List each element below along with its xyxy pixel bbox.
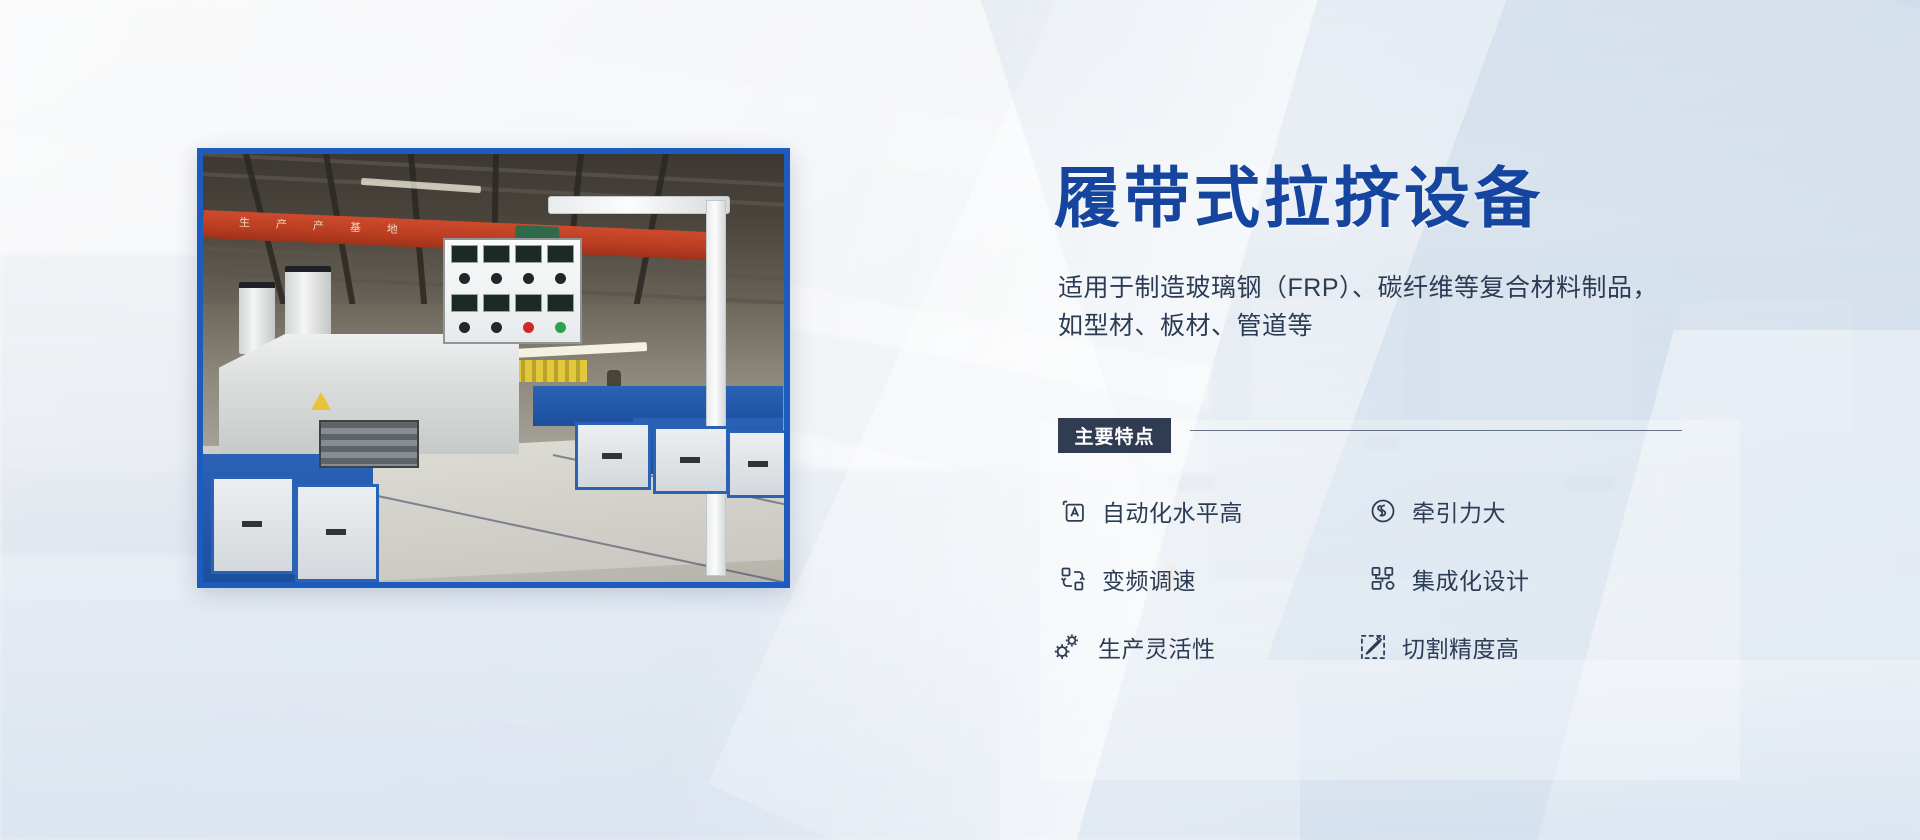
- feature-label: 生产灵活性: [1098, 630, 1216, 664]
- page-title: 履带式拉挤设备: [1054, 166, 1544, 232]
- product-photo: 生产产基地: [197, 148, 790, 588]
- feature-item-automation[interactable]: 自动化水平高: [1040, 490, 1350, 532]
- feature-label: 自动化水平高: [1102, 494, 1243, 528]
- feature-label: 切割精度高: [1402, 630, 1520, 664]
- feature-item-cut-precision[interactable]: 切割精度高: [1350, 626, 1650, 668]
- cut-precision-icon: [1358, 632, 1388, 662]
- feature-label: 变频调速: [1102, 562, 1196, 596]
- gears-icon: [1048, 632, 1084, 662]
- feature-label: 集成化设计: [1412, 562, 1530, 596]
- page-subtitle: 适用于制造玻璃钢（FRP）、碳纤维等复合材料制品，如型材、板材、管道等: [1058, 270, 1658, 345]
- automation-icon: [1058, 496, 1088, 526]
- banner-content: 履带式拉挤设备 适用于制造玻璃钢（FRP）、碳纤维等复合材料制品，如型材、板材、…: [1040, 0, 1680, 840]
- integration-icon: [1368, 564, 1398, 594]
- status-badge: 主要特点: [1058, 418, 1171, 453]
- feature-item-integration[interactable]: 集成化设计: [1350, 558, 1650, 600]
- feature-list: 自动化水平高 牵引力大: [1040, 490, 1680, 668]
- divider: [1190, 430, 1682, 431]
- feature-item-gears[interactable]: 生产灵活性: [1040, 626, 1350, 668]
- frequency-speed-icon: [1058, 564, 1088, 594]
- feature-item-traction[interactable]: 牵引力大: [1350, 490, 1650, 532]
- product-hero-banner: 生产产基地: [0, 0, 1920, 840]
- feature-item-frequency-speed[interactable]: 变频调速: [1040, 558, 1350, 600]
- traction-icon: [1368, 496, 1398, 526]
- feature-label: 牵引力大: [1412, 494, 1506, 528]
